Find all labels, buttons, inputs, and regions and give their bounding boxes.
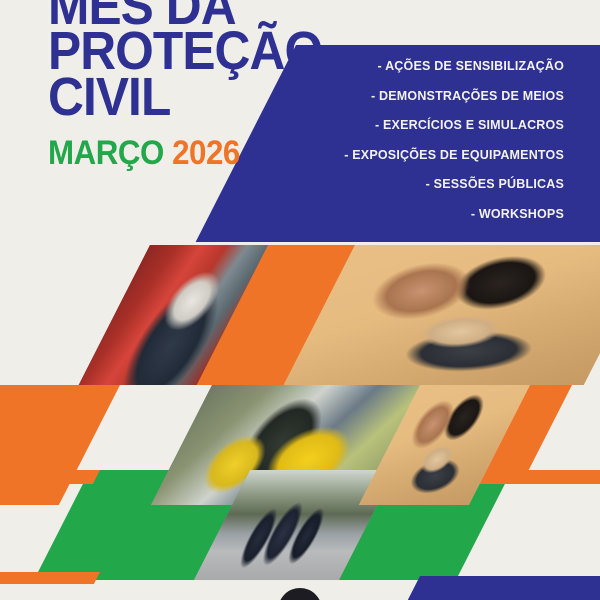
organization-logo — [278, 588, 322, 600]
activity-item: - SESSÕES PÚBLICAS — [312, 178, 564, 191]
band4-orange-sliver-left — [0, 572, 100, 584]
date-year: 2026 — [172, 134, 240, 172]
activity-item: - WORKSHOPS — [312, 208, 564, 221]
band3-orange-sliver-left — [0, 470, 100, 484]
band4-blue-sliver-right — [408, 576, 600, 600]
poster-date: MARÇO 2026 — [48, 136, 342, 170]
date-month: MARÇO — [48, 134, 164, 172]
title-line-3: CIVIL — [48, 75, 342, 120]
poster-title-block: MÊS DA PROTEÇÃO CIVIL MARÇO 2026 — [48, 0, 368, 170]
poster-canvas: - AÇÕES DE SENSIBILIZAÇÃO - DEMONSTRAÇÕE… — [0, 0, 600, 600]
